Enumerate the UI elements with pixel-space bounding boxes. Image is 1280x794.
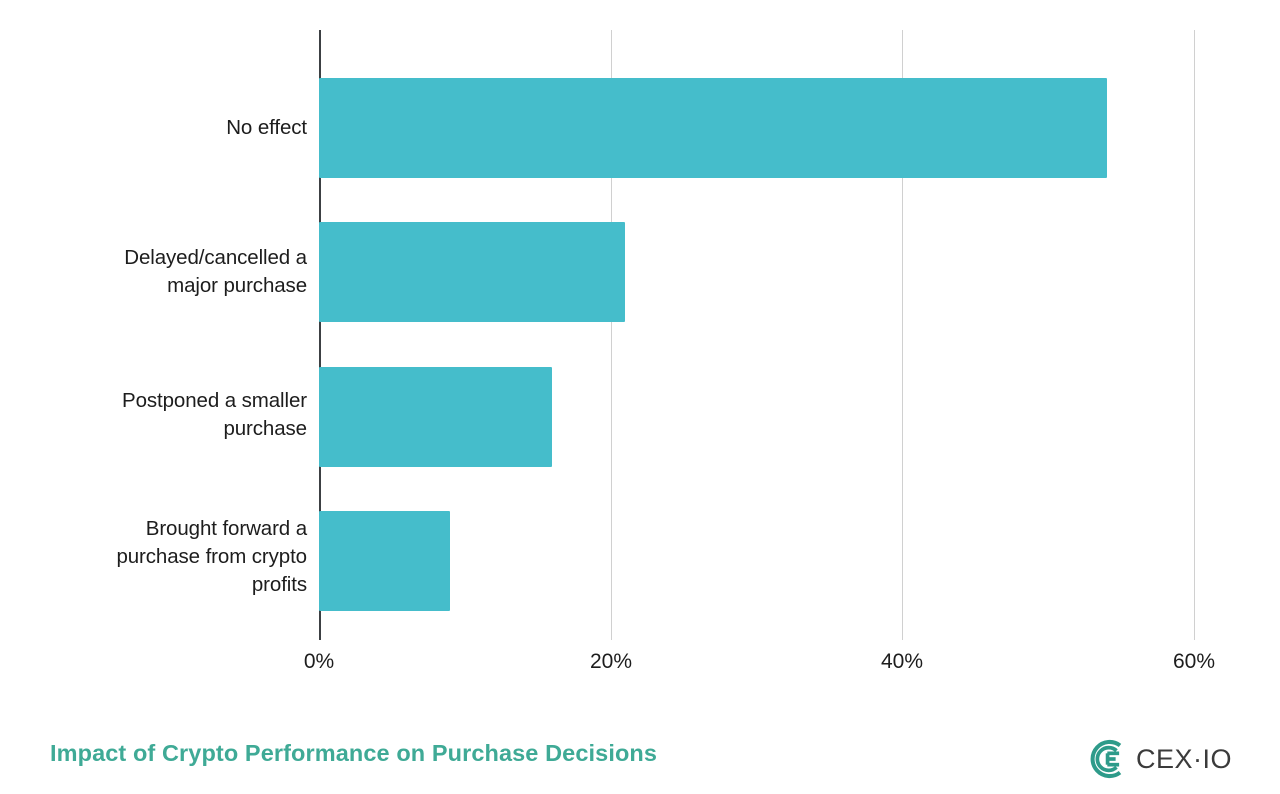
category-label-brought-forward-purchase: Brought forward a purchase from crypto p… [17, 515, 307, 599]
x-tick-label-40: 40% [881, 648, 923, 676]
category-label-line: purchase [17, 415, 307, 443]
category-label-no-effect: No effect [17, 114, 307, 142]
cexio-logo-icon [1085, 738, 1127, 780]
category-label-line: Delayed/cancelled a [17, 244, 307, 272]
x-tick-label-0: 0% [304, 648, 334, 676]
cexio-logo-text: CEX·IO [1136, 744, 1232, 775]
x-tick-label-20: 20% [590, 648, 632, 676]
category-label-delayed-cancelled-major-purchase: Delayed/cancelled a major purchase [17, 244, 307, 300]
gridline-60 [1194, 30, 1195, 640]
x-tick-label-60: 60% [1173, 648, 1215, 676]
category-label-line: No effect [17, 114, 307, 142]
plot-area [319, 30, 1194, 640]
chart-figure: No effect Delayed/cancelled a major purc… [0, 0, 1280, 794]
bar-brought-forward-purchase[interactable] [319, 511, 450, 611]
category-axis: No effect Delayed/cancelled a major purc… [0, 30, 307, 640]
bar-no-effect[interactable] [319, 78, 1107, 178]
category-label-line: major purchase [17, 272, 307, 300]
cexio-logo: CEX·IO [1085, 736, 1232, 782]
category-label-postponed-smaller-purchase: Postponed a smaller purchase [17, 387, 307, 443]
category-label-line: purchase from crypto [17, 543, 307, 571]
chart-title: Impact of Crypto Performance on Purchase… [50, 740, 657, 767]
bar-delayed-cancelled-major-purchase[interactable] [319, 222, 625, 322]
category-label-line: Brought forward a [17, 515, 307, 543]
bar-postponed-smaller-purchase[interactable] [319, 367, 552, 467]
category-label-line: Postponed a smaller [17, 387, 307, 415]
category-label-line: profits [17, 571, 307, 599]
